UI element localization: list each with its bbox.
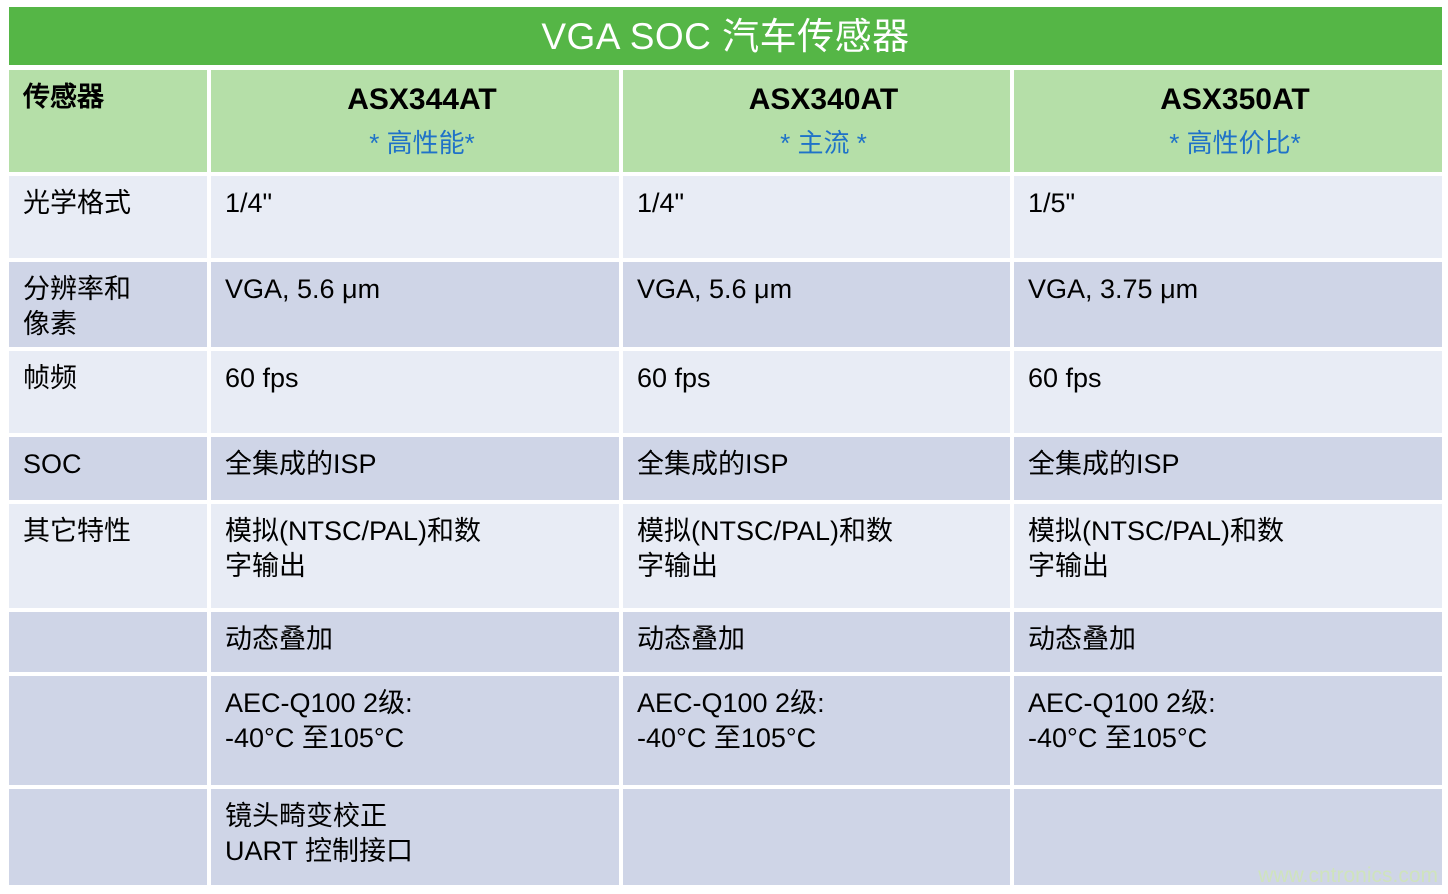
table-header-row: 传感器 ASX344AT * 高性能* ASX340AT * 主流 * ASX3… — [9, 70, 1442, 176]
cell-resolution-asx340at: VGA, 5.6 μm — [623, 262, 1014, 351]
cell-optical-format-asx344at: 1/4" — [211, 176, 623, 262]
cell-soc-asx344at: 全集成的ISP — [211, 437, 623, 504]
cell-frame-rate-asx340at: 60 fps — [623, 351, 1014, 437]
cell-frame-rate-asx350at: 60 fps — [1014, 351, 1442, 437]
row-label-empty-3 — [9, 789, 211, 889]
cell-other-asx340at: 模拟(NTSC/PAL)和数 字输出 — [623, 504, 1014, 612]
row-label-optical-format: 光学格式 — [9, 176, 211, 262]
table-row: SOC 全集成的ISP 全集成的ISP 全集成的ISP — [9, 437, 1442, 504]
cell-soc-asx340at: 全集成的ISP — [623, 437, 1014, 504]
cell-resolution-asx344at: VGA, 5.6 μm — [211, 262, 623, 351]
cell-other-asx350at: 模拟(NTSC/PAL)和数 字输出 — [1014, 504, 1442, 612]
table-row: AEC-Q100 2级: -40°C 至105°C AEC-Q100 2级: -… — [9, 676, 1442, 789]
site-watermark: www.cntronics.com — [1258, 864, 1438, 888]
product-tag-1: * 高性能* — [225, 127, 619, 161]
cell-resolution-asx350at: VGA, 3.75 μm — [1014, 262, 1442, 351]
header-row-label: 传感器 — [9, 70, 211, 176]
cell-overlay-asx350at: 动态叠加 — [1014, 612, 1442, 676]
product-name-3: ASX350AT — [1028, 80, 1442, 119]
table-row: 镜头畸变校正 UART 控制接口 — [9, 789, 1442, 889]
table-row: 其它特性 模拟(NTSC/PAL)和数 字输出 模拟(NTSC/PAL)和数 字… — [9, 504, 1442, 612]
row-label-soc: SOC — [9, 437, 211, 504]
title-banner: VGA SOC 汽车传感器 — [9, 7, 1442, 65]
header-cell-product-2: ASX340AT * 主流 * — [623, 70, 1014, 176]
row-label-empty-2 — [9, 676, 211, 789]
cell-other-asx344at: 模拟(NTSC/PAL)和数 字输出 — [211, 504, 623, 612]
cell-aec-asx344at: AEC-Q100 2级: -40°C 至105°C — [211, 676, 623, 789]
header-cell-product-3: ASX350AT * 高性价比* — [1014, 70, 1442, 176]
row-label-other-features: 其它特性 — [9, 504, 211, 612]
slide-root: VGA SOC 汽车传感器 传感器 ASX344AT * 高性能* ASX340… — [0, 0, 1448, 894]
table-row: 光学格式 1/4" 1/4" 1/5" — [9, 176, 1442, 262]
table-row: 分辨率和 像素 VGA, 5.6 μm VGA, 5.6 μm VGA, 3.7… — [9, 262, 1442, 351]
cell-aec-asx350at: AEC-Q100 2级: -40°C 至105°C — [1014, 676, 1442, 789]
row-label-frame-rate: 帧频 — [9, 351, 211, 437]
cell-frame-rate-asx344at: 60 fps — [211, 351, 623, 437]
cell-optical-format-asx340at: 1/4" — [623, 176, 1014, 262]
cell-overlay-asx340at: 动态叠加 — [623, 612, 1014, 676]
cell-lens-asx340at — [623, 789, 1014, 889]
product-tag-3: * 高性价比* — [1028, 127, 1442, 161]
page-title: VGA SOC 汽车传感器 — [541, 18, 909, 55]
cell-aec-asx340at: AEC-Q100 2级: -40°C 至105°C — [623, 676, 1014, 789]
cell-lens-asx344at: 镜头畸变校正 UART 控制接口 — [211, 789, 623, 889]
cell-optical-format-asx350at: 1/5" — [1014, 176, 1442, 262]
sensor-comparison-table: 传感器 ASX344AT * 高性能* ASX340AT * 主流 * ASX3… — [9, 70, 1442, 889]
product-name-1: ASX344AT — [225, 80, 619, 119]
header-cell-product-1: ASX344AT * 高性能* — [211, 70, 623, 176]
table-row: 动态叠加 动态叠加 动态叠加 — [9, 612, 1442, 676]
row-label-empty-1 — [9, 612, 211, 676]
product-name-2: ASX340AT — [637, 80, 1010, 119]
row-label-resolution-pixel: 分辨率和 像素 — [9, 262, 211, 351]
cell-soc-asx350at: 全集成的ISP — [1014, 437, 1442, 504]
product-tag-2: * 主流 * — [637, 127, 1010, 161]
table-row: 帧频 60 fps 60 fps 60 fps — [9, 351, 1442, 437]
cell-overlay-asx344at: 动态叠加 — [211, 612, 623, 676]
